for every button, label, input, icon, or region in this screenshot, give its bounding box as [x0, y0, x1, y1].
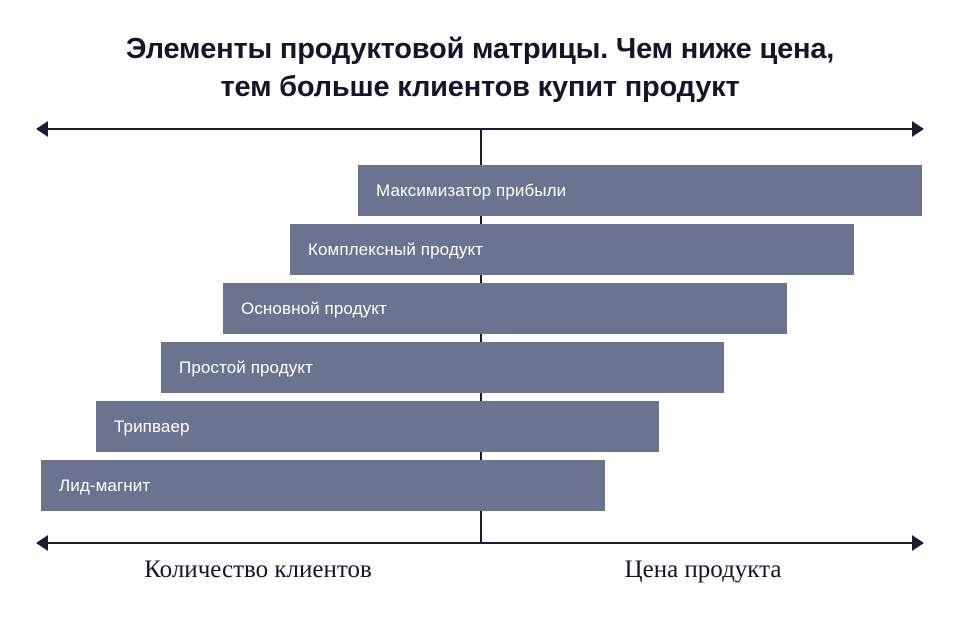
bar-label: Трипваер — [114, 417, 190, 437]
axis-caption-price: Цена продукта — [482, 556, 924, 584]
bar-label: Комплексный продукт — [308, 240, 483, 260]
bar-label: Простой продукт — [179, 358, 313, 378]
slide-canvas: Элементы продуктовой матрицы. Чем ниже ц… — [0, 0, 960, 630]
bar-label: Лид-магнит — [59, 476, 150, 496]
bar-row[interactable]: Лид-магнит — [41, 460, 605, 511]
bottom-axis-line — [46, 542, 914, 544]
bar-row[interactable]: Трипваер — [96, 401, 659, 452]
bar-label: Максимизатор прибыли — [376, 181, 566, 201]
bar-row[interactable]: Максимизатор прибыли — [358, 165, 922, 216]
bottom-axis — [36, 532, 924, 554]
axis-caption-customers: Количество клиентов — [36, 556, 480, 584]
bar-row[interactable]: Комплексный продукт — [290, 224, 854, 275]
bottom-axis-right-arrow-icon — [912, 535, 924, 551]
bar-row[interactable]: Простой продукт — [161, 342, 724, 393]
bar-row[interactable]: Основной продукт — [223, 283, 787, 334]
bar-label: Основной продукт — [241, 299, 387, 319]
